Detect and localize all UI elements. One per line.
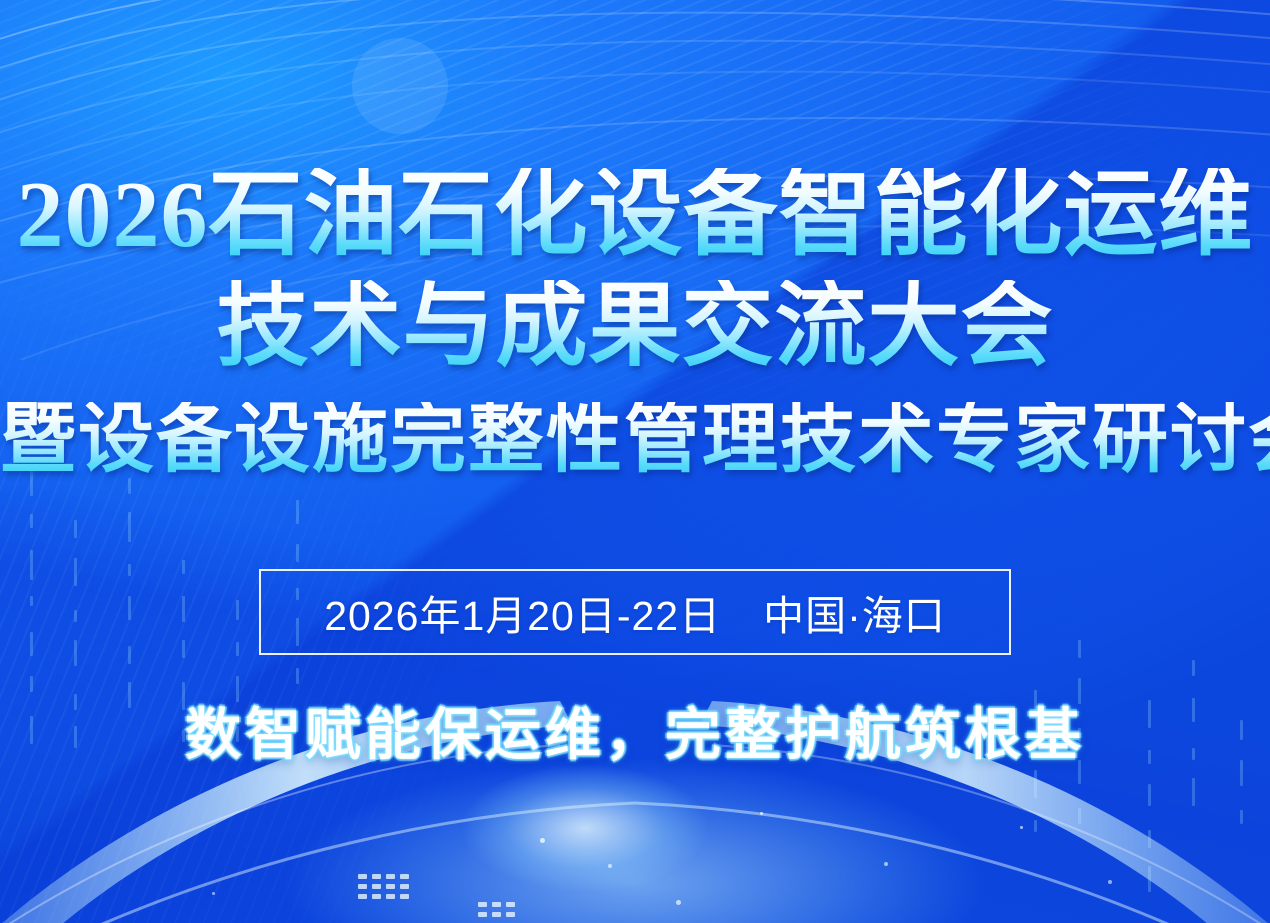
conference-slogan: 数智赋能保运维，完整护航筑根基: [0, 690, 1270, 771]
date-location-box: 2026年1月20日-22日 中国·海口: [259, 569, 1011, 655]
conference-poster: 2026石油石化设备智能化运维 技术与成果交流大会 暨设备设施完整性管理技术专家…: [0, 0, 1270, 923]
conference-title-line-1: 2026石油石化设备智能化运维: [0, 168, 1270, 262]
title-block: 2026石油石化设备智能化运维 技术与成果交流大会 暨设备设施完整性管理技术专家…: [0, 168, 1270, 478]
conference-title-line-2: 技术与成果交流大会: [0, 280, 1270, 372]
date-location-text: 2026年1月20日-22日 中国·海口: [324, 582, 946, 642]
conference-subtitle-line: 暨设备设施完整性管理技术专家研讨会: [0, 402, 1270, 478]
poster-content: 2026石油石化设备智能化运维 技术与成果交流大会 暨设备设施完整性管理技术专家…: [0, 0, 1270, 923]
